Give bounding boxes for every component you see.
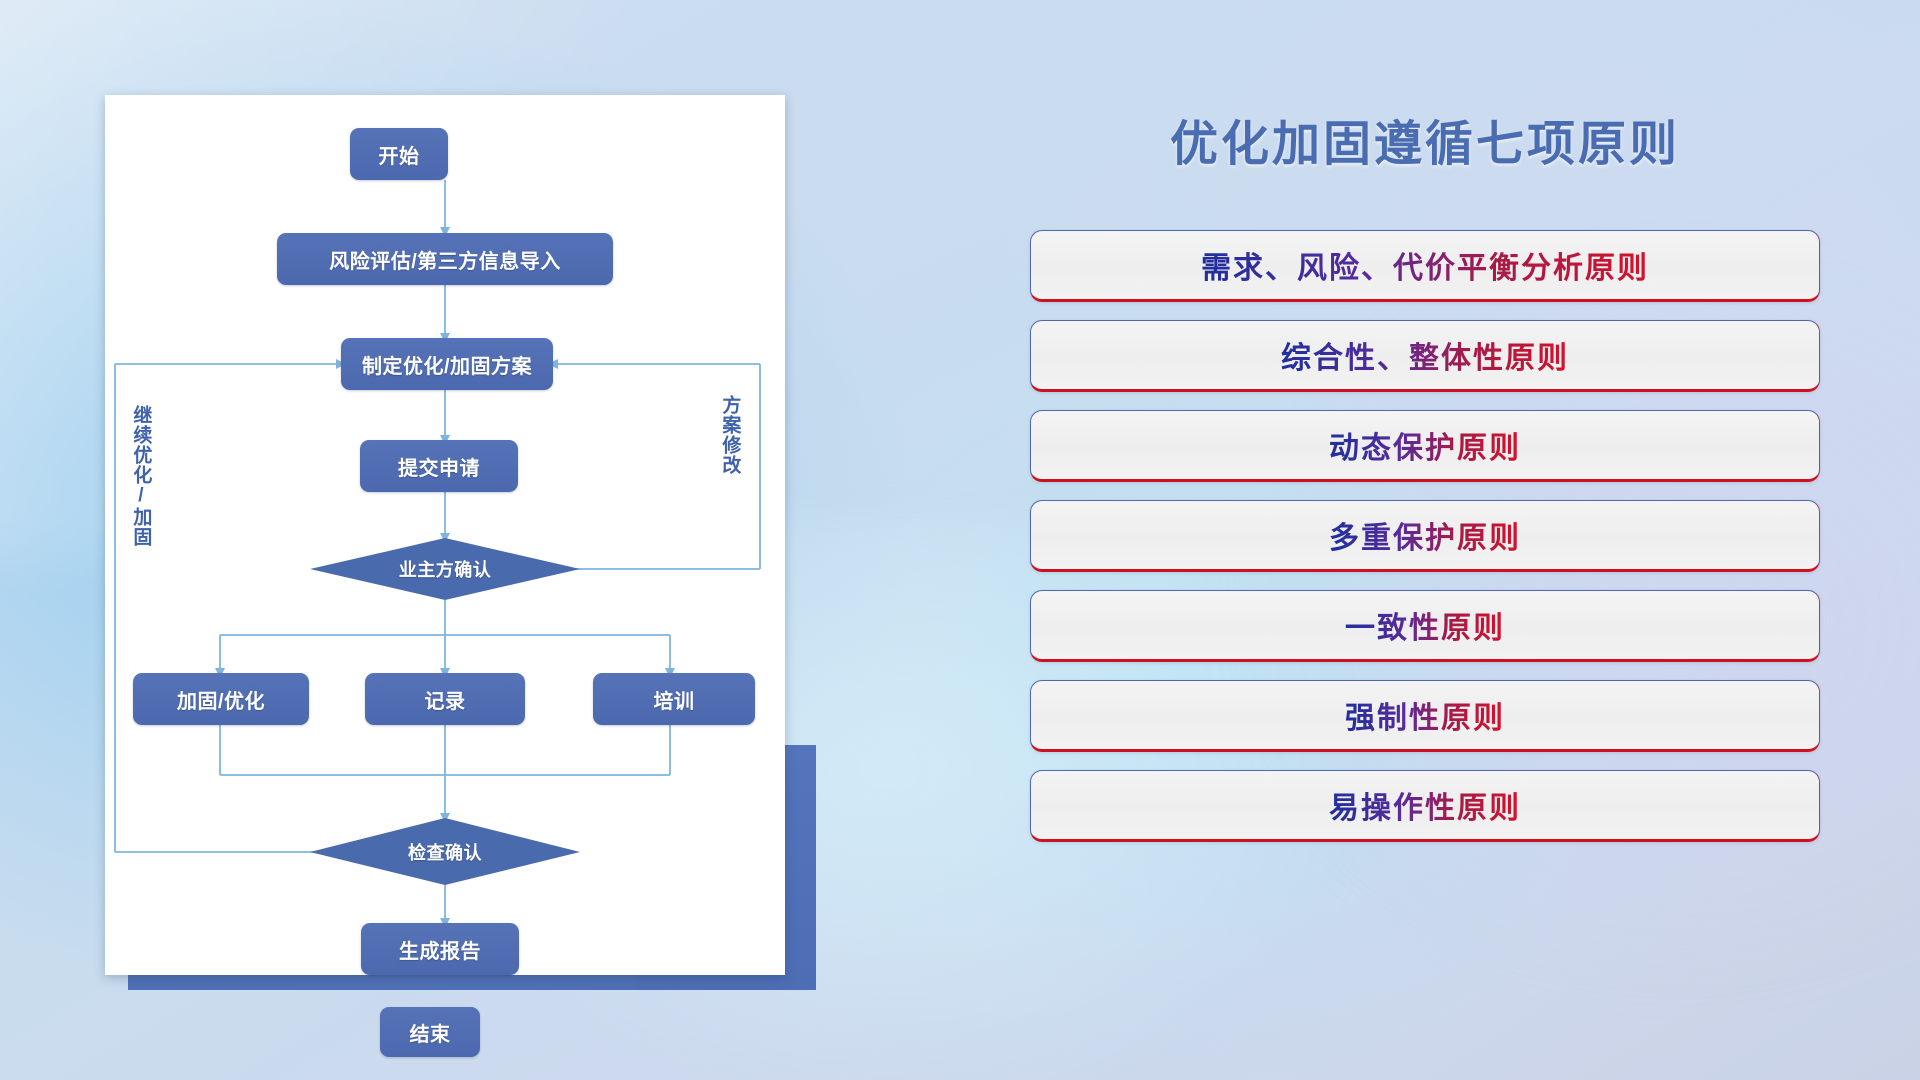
principle-card-label: 易操作性原则 xyxy=(1329,783,1521,827)
principle-card[interactable]: 动态保护原则 xyxy=(1030,410,1820,482)
flow-node-start[interactable]: 开始 xyxy=(350,128,448,180)
slide-canvas: 开始 风险评估/第三方信息导入 制定优化/加固方案 提交申请 业主方确认 加固/… xyxy=(0,0,1920,1080)
flow-node-start-label: 开始 xyxy=(379,140,420,169)
principle-card-label: 一致性原则 xyxy=(1345,603,1505,647)
principles-panel-title: 优化加固遵循七项原则 xyxy=(1020,104,1830,174)
decision-shape-check xyxy=(310,818,580,885)
flowchart-connectors xyxy=(105,95,785,975)
flow-node-record-label: 记录 xyxy=(425,685,466,714)
flow-node-end[interactable]: 结束 xyxy=(380,1007,480,1057)
flow-node-reinforce[interactable]: 加固/优化 xyxy=(133,673,309,725)
flowchart-card: 开始 风险评估/第三方信息导入 制定优化/加固方案 提交申请 业主方确认 加固/… xyxy=(105,95,785,975)
flow-node-training[interactable]: 培训 xyxy=(593,673,755,725)
flow-node-submit-application[interactable]: 提交申请 xyxy=(360,440,518,492)
principle-card[interactable]: 一致性原则 xyxy=(1030,590,1820,662)
flow-node-generate-report-label: 生成报告 xyxy=(399,935,481,964)
flow-edge-label-plan-revision: 方案修改 xyxy=(720,395,739,475)
flow-node-plan[interactable]: 制定优化/加固方案 xyxy=(341,338,553,390)
flow-node-training-label: 培训 xyxy=(654,685,695,714)
flow-node-generate-report[interactable]: 生成报告 xyxy=(361,923,519,975)
principle-card[interactable]: 综合性、整体性原则 xyxy=(1030,320,1820,392)
principle-card-label: 综合性、整体性原则 xyxy=(1281,333,1569,377)
flow-node-submit-application-label: 提交申请 xyxy=(398,452,480,481)
flow-node-plan-label: 制定优化/加固方案 xyxy=(362,350,532,379)
principle-card[interactable]: 强制性原则 xyxy=(1030,680,1820,752)
principle-card-label: 强制性原则 xyxy=(1345,693,1505,737)
flow-edge-label-continue-optimize: 继续优化/加固 xyxy=(131,405,150,547)
principle-card[interactable]: 需求、风险、代价平衡分析原则 xyxy=(1030,230,1820,302)
flow-node-end-label: 结束 xyxy=(410,1018,451,1047)
decision-shape-owner xyxy=(310,538,580,600)
flow-node-record[interactable]: 记录 xyxy=(365,673,525,725)
flow-node-risk-assessment[interactable]: 风险评估/第三方信息导入 xyxy=(277,233,613,285)
flow-node-reinforce-label: 加固/优化 xyxy=(177,685,265,714)
principle-card[interactable]: 多重保护原则 xyxy=(1030,500,1820,572)
principle-card-label: 需求、风险、代价平衡分析原则 xyxy=(1201,243,1649,287)
principles-panel: 优化加固遵循七项原则 需求、风险、代价平衡分析原则 综合性、整体性原则 动态保护… xyxy=(1020,90,1830,1010)
principle-card[interactable]: 易操作性原则 xyxy=(1030,770,1820,842)
principle-card-label: 多重保护原则 xyxy=(1329,513,1521,557)
principle-card-label: 动态保护原则 xyxy=(1329,423,1521,467)
principles-card-list: 需求、风险、代价平衡分析原则 综合性、整体性原则 动态保护原则 多重保护原则 一… xyxy=(1030,230,1820,860)
flow-node-risk-assessment-label: 风险评估/第三方信息导入 xyxy=(329,245,561,274)
